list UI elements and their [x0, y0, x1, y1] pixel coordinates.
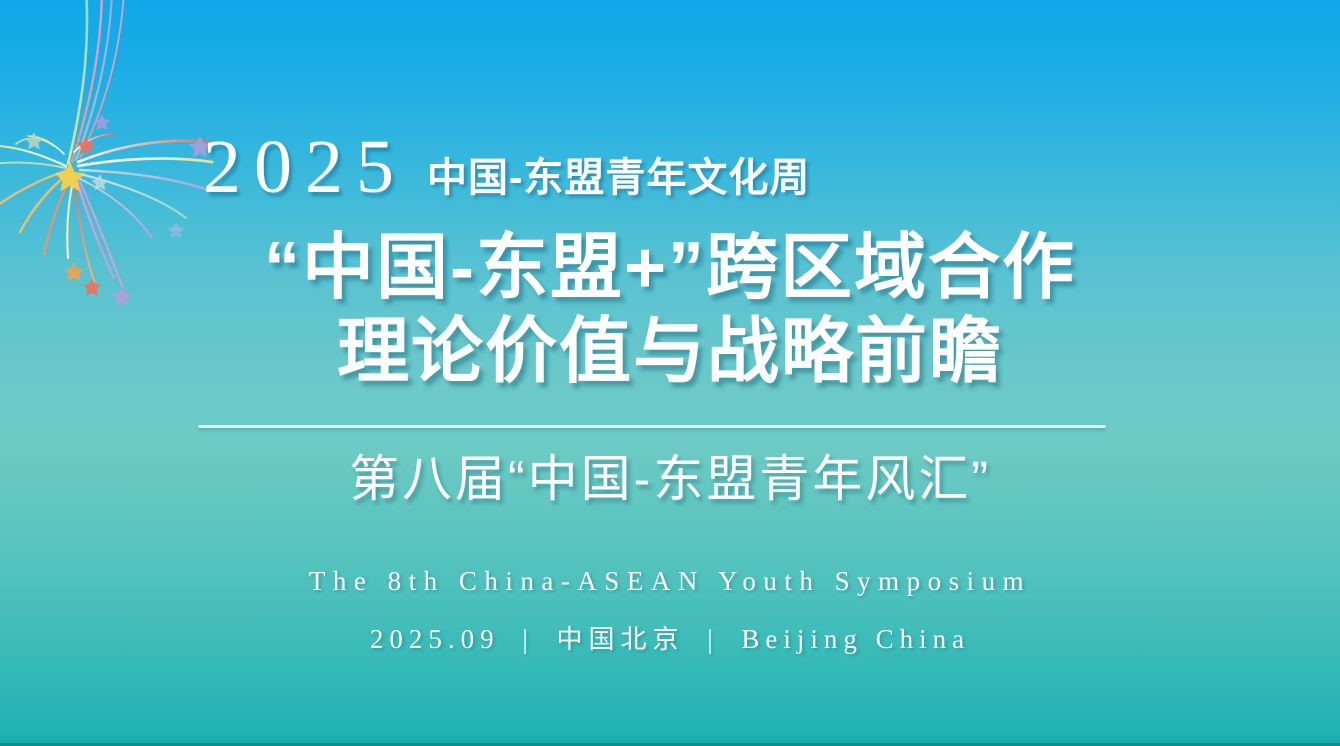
poster-text-stack: 2025 中国-东盟青年文化周 “中国-东盟+”跨区域合作 理论价值与战略前瞻 …: [0, 0, 1340, 746]
title-line-2: 理论价值与战略前瞻: [0, 312, 1340, 392]
title-line-1: “中国-东盟+”跨区域合作: [0, 228, 1340, 308]
divider-rule: [198, 425, 1106, 428]
event-series-label: 中国-东盟青年文化周: [427, 156, 810, 200]
separator-left: |: [512, 624, 543, 654]
event-poster: 2025 中国-东盟青年文化周 “中国-东盟+”跨区域合作 理论价值与战略前瞻 …: [0, 0, 1340, 746]
location-en: Beijing China: [741, 624, 970, 654]
subtitle: 第八届“中国-东盟青年风汇”: [0, 450, 1340, 508]
event-date: 2025.09: [370, 624, 500, 654]
english-title: The 8th China-ASEAN Youth Symposium: [0, 564, 1340, 598]
location-cn: 中国北京: [556, 624, 684, 654]
separator-right: |: [697, 624, 728, 654]
page-title: “中国-东盟+”跨区域合作 理论价值与战略前瞻: [0, 228, 1340, 392]
year-label: 2025: [203, 126, 407, 208]
year-row: 2025 中国-东盟青年文化周: [0, 126, 1340, 208]
date-location-line: 2025.09 | 中国北京 | Beijing China: [0, 622, 1340, 656]
